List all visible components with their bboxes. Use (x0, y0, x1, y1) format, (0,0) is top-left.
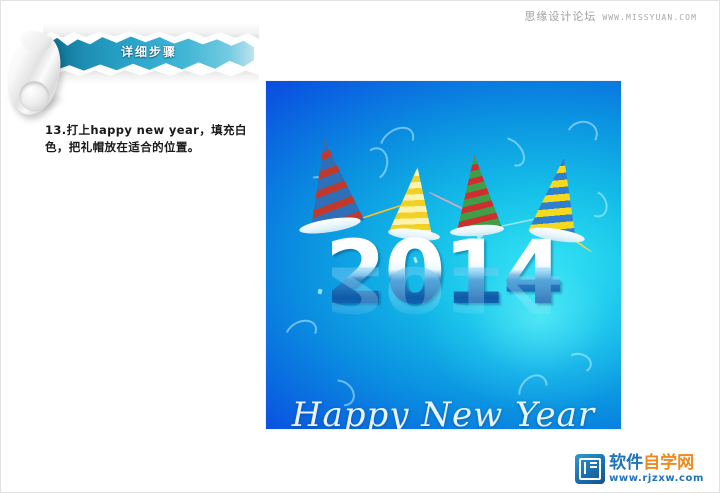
banner-heading: 详细步骤 (121, 43, 177, 60)
torn-paper-banner: 详细步骤 (1, 19, 271, 119)
logo-text-block: 软件自学网 www.rjzxw.com (609, 455, 704, 484)
happy-new-year-text: Happy New Year (266, 395, 621, 429)
streamer-decoration (580, 187, 612, 222)
torn-edge-bottom (43, 69, 259, 84)
logo-name-part2: 自学网 (643, 453, 694, 473)
year-number-reflection: 2014 (266, 258, 621, 321)
site-watermark: 思缘设计论坛 WWW.MISSYUAN.COM (524, 8, 697, 24)
site-logo[interactable]: 软件自学网 www.rjzxw.com (575, 454, 704, 484)
artwork-preview-image: 2014 2014 Happy New Year (266, 81, 621, 429)
watermark-site-name: 思缘设计论坛 (524, 8, 596, 24)
paper-roll-icon (0, 26, 74, 124)
torn-edge-top (43, 24, 259, 39)
logo-url: www.rjzxw.com (609, 474, 704, 484)
step-instruction-text: 13.打上happy new year，填充白色，把礼帽放在适合的位置。 (45, 122, 260, 156)
streamer-decoration (491, 132, 530, 172)
logo-name-part1: 软件 (609, 453, 643, 473)
streamer-decoration (564, 351, 594, 376)
logo-mark-icon (575, 454, 605, 484)
streamer-decoration (562, 117, 601, 154)
tutorial-page: 思缘设计论坛 WWW.MISSYUAN.COM 详细步骤 13.打上happy … (0, 0, 720, 493)
watermark-url: WWW.MISSYUAN.COM (602, 13, 697, 22)
logo-name: 软件自学网 (609, 455, 704, 472)
logo-glyph (579, 458, 601, 480)
